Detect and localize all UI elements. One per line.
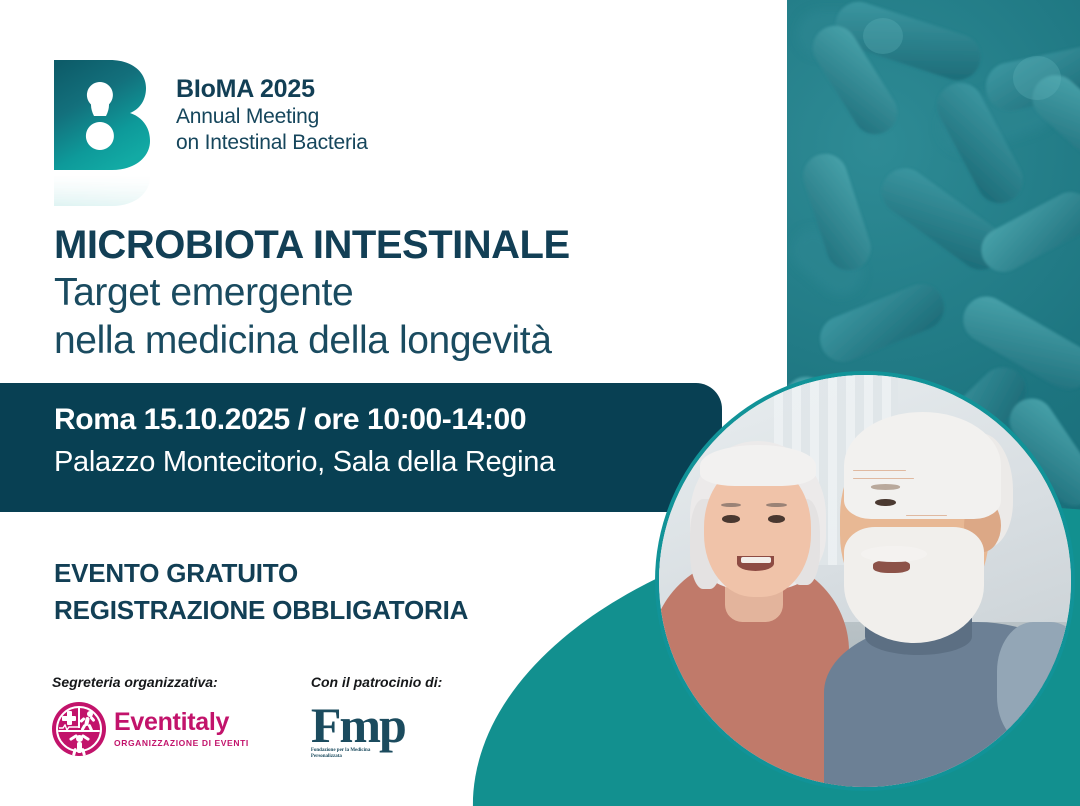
woman-eye-right	[768, 515, 785, 523]
eventitaly-tagline: ORGANIZZAZIONE DI EVENTI	[114, 738, 249, 748]
woman-eye-left	[722, 515, 739, 523]
logo-mark-b	[54, 60, 150, 205]
footer-logos: Segreteria organizzativa:	[52, 674, 442, 764]
man-forehead-line-1	[853, 470, 907, 471]
fmp-tagline: Fondazione per la Medicina Personalizzat…	[311, 748, 373, 762]
headline-line3: nella medicina della longevità	[54, 317, 570, 365]
man-brow	[871, 484, 900, 489]
headline-line2: Target emergente	[54, 269, 570, 317]
secretariat-column: Segreteria organizzativa:	[52, 674, 249, 764]
woman-fringe	[700, 445, 815, 486]
date-venue-banner: Roma 15.10.2025 / ore 10:00-14:00 Palazz…	[0, 383, 722, 512]
fmp-logo: Fmp Fondazione per la Medicina Personali…	[311, 702, 407, 764]
letter-b-icon	[54, 60, 150, 170]
event-subtitle-line1: Annual Meeting	[176, 104, 368, 130]
man-mouth	[873, 560, 910, 572]
woman-teeth	[741, 557, 771, 563]
headline-block: MICROBIOTA INTESTINALE Target emergente …	[54, 222, 570, 364]
photo-inner	[659, 375, 1071, 787]
event-date-time: Roma 15.10.2025 / ore 10:00-14:00	[54, 401, 722, 439]
man-sleeve	[997, 622, 1071, 746]
man-forehead-line-2	[853, 478, 915, 479]
eventitaly-text: Eventitaly ORGANIZZAZIONE DI EVENTI	[114, 710, 249, 748]
event-venue: Palazzo Montecitorio, Sala della Regina	[54, 443, 722, 482]
registration-block: EVENTO GRATUITO REGISTRAZIONE OBBLIGATOR…	[54, 555, 468, 629]
eventitaly-logo: Eventitaly ORGANIZZAZIONE DI EVENTI	[52, 702, 249, 756]
registration-line1: EVENTO GRATUITO	[54, 555, 468, 592]
registration-line2: REGISTRAZIONE OBBLIGATORIA	[54, 592, 468, 629]
event-subtitle-line2: on Intestinal Bacteria	[176, 130, 368, 156]
eventitaly-name: Eventitaly	[114, 710, 249, 735]
eventitaly-emblem-icon	[52, 702, 106, 756]
headline-line1: MICROBIOTA INTESTINALE	[54, 222, 570, 269]
man-cheek-line	[906, 515, 947, 516]
event-name: BIoMA 2025	[176, 76, 368, 104]
secretariat-label: Segreteria organizzativa:	[52, 674, 249, 690]
man-hair	[844, 412, 1001, 519]
heartbeat-icon	[59, 724, 79, 731]
logo-text-block: BIoMA 2025 Annual Meeting on Intestinal …	[176, 60, 368, 156]
elderly-couple-photo	[655, 371, 1075, 791]
patronage-column: Con il patrocinio di: Fmp Fondazione per…	[311, 674, 442, 764]
man-eye	[875, 499, 896, 506]
bioma-logo: BIoMA 2025 Annual Meeting on Intestinal …	[54, 60, 368, 205]
logo-reflection	[54, 172, 150, 206]
fmp-monogram: Fmp	[311, 702, 407, 750]
patronage-label: Con il patrocinio di:	[311, 674, 442, 690]
man-beard	[844, 527, 984, 642]
medical-cross-bar	[62, 716, 76, 721]
event-poster: BIoMA 2025 Annual Meeting on Intestinal …	[0, 0, 1080, 806]
